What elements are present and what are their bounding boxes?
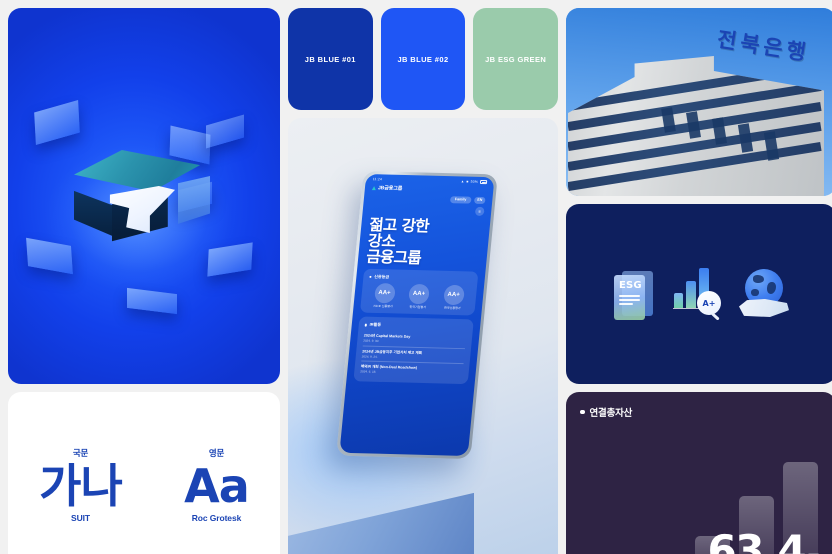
asset-card-header: 연결총자산	[580, 405, 632, 419]
swatch-jb-esg-green[interactable]: JB ESG GREEN	[473, 8, 558, 110]
grade-badge: A+	[697, 291, 721, 315]
bullet-icon	[580, 410, 585, 415]
asset-value: 63.4 조	[707, 530, 820, 554]
rating-grade: AA+	[443, 285, 465, 305]
panel-title-text: 신용등급	[374, 274, 389, 280]
family-chip[interactable]: Family	[450, 196, 472, 203]
swatch-jb-blue-02[interactable]: JB BLUE #02	[381, 8, 466, 110]
header-chip-row: Family EN	[364, 191, 493, 204]
rating-item[interactable]: AA+ 한국기업평가	[402, 284, 435, 310]
sign-char: 전	[715, 23, 739, 56]
swatch-label: JB BLUE #01	[305, 55, 356, 64]
sign-char: 북	[738, 27, 762, 60]
triangle-mark-icon	[372, 186, 376, 190]
headquarters-photo-card: 전 북 은 행	[566, 8, 832, 196]
status-icons: ▲ ■ 50%	[461, 179, 488, 184]
language-chip[interactable]: EN	[474, 197, 486, 204]
brand-3d-logo-card	[8, 8, 280, 384]
list-item[interactable]: 해외IR 개최 (Non-Deal Roadshow) 2024. 6. 18.	[360, 362, 464, 379]
hero-headline: 젊고 강한 강소 금융그룹	[358, 213, 491, 268]
mobile-app-mockup-card: 11:24 ▲ ■ 50% JB금융그룹	[288, 118, 558, 554]
swatch-label: JB ESG GREEN	[485, 55, 546, 64]
typography-english: 영문 Aa Roc Grotesk	[184, 447, 249, 524]
color-swatch-row: JB BLUE #01 JB BLUE #02 JB ESG GREEN	[288, 8, 558, 110]
globe-in-hand-icon	[739, 269, 789, 319]
phone-screen: 11:24 ▲ ■ 50% JB금융그룹	[339, 174, 494, 456]
panel-title-text: IR활동	[369, 322, 381, 328]
asset-value-number: 63.4	[707, 530, 805, 554]
wifi-icon: ▲	[461, 179, 465, 183]
typography-card: 국문 가나 SUIT 영문 Aa Roc Grotesk	[8, 392, 280, 554]
typo-kind-label: 국문	[73, 447, 88, 459]
signal-icon: ■	[466, 180, 469, 184]
app-brand-name: JB금융그룹	[378, 184, 403, 192]
panel-title: IR활동	[365, 322, 468, 331]
rating-list: AA+ NICE 신용평가 AA+ 한국기업평가 AA+ 한국신용평가	[366, 283, 471, 311]
battery-icon	[480, 180, 487, 184]
bullet-icon	[369, 276, 372, 278]
typo-font-name: SUIT	[71, 513, 90, 523]
panel-title: 신용등급	[369, 274, 472, 283]
ir-news-panel: IR활동 2024년 Capital Markets Day 2024. 9. …	[353, 317, 473, 384]
esg-doc-label: ESG	[619, 280, 642, 291]
swatch-jb-blue-01[interactable]: JB BLUE #01	[288, 8, 373, 110]
rating-grade: AA+	[408, 284, 430, 304]
rating-item[interactable]: AA+ 한국신용평가	[437, 285, 470, 311]
credit-rating-panel: 신용등급 AA+ NICE 신용평가 AA+ 한국기업평가	[360, 269, 478, 316]
hamburger-menu-icon[interactable]: ≡	[475, 207, 485, 216]
sign-char: 은	[761, 30, 785, 63]
asset-value-unit: 조	[807, 550, 820, 554]
rating-item[interactable]: AA+ NICE 신용평가	[367, 283, 400, 309]
rating-agency: NICE 신용평가	[373, 305, 392, 309]
rating-grade: AA+	[373, 283, 395, 303]
esg-document-icon: ESG	[613, 269, 655, 319]
headline-line: 금융그룹	[366, 249, 480, 268]
brand-board: JB BLUE #01 JB BLUE #02 JB ESG GREEN 전 북	[0, 0, 832, 554]
asset-label: 연결총자산	[590, 405, 633, 419]
total-assets-card: 연결총자산 63.4 조	[566, 392, 832, 554]
typography-korean: 국문 가나 SUIT	[39, 447, 122, 524]
bullet-icon	[365, 324, 368, 326]
rating-agency: 한국신용평가	[444, 307, 461, 311]
battery-percent: 50%	[470, 180, 478, 184]
app-logo[interactable]: JB금융그룹	[372, 184, 403, 192]
esg-icons-card: ESG A+	[566, 204, 832, 384]
phone-body: 11:24 ▲ ■ 50% JB금융그룹	[336, 171, 498, 459]
swatch-label: JB BLUE #02	[397, 55, 448, 64]
bar-chart-grade-icon: A+	[673, 269, 721, 319]
rating-agency: 한국기업평가	[409, 306, 426, 310]
phone-device: 11:24 ▲ ■ 50% JB금융그룹	[336, 171, 498, 459]
jb-3d-logo-icon	[60, 150, 216, 246]
typo-specimen: 가나	[39, 461, 122, 512]
status-time: 11:24	[373, 177, 383, 181]
typo-specimen: Aa	[184, 461, 249, 512]
typo-font-name: Roc Grotesk	[192, 513, 241, 523]
typo-kind-label: 영문	[209, 447, 224, 459]
